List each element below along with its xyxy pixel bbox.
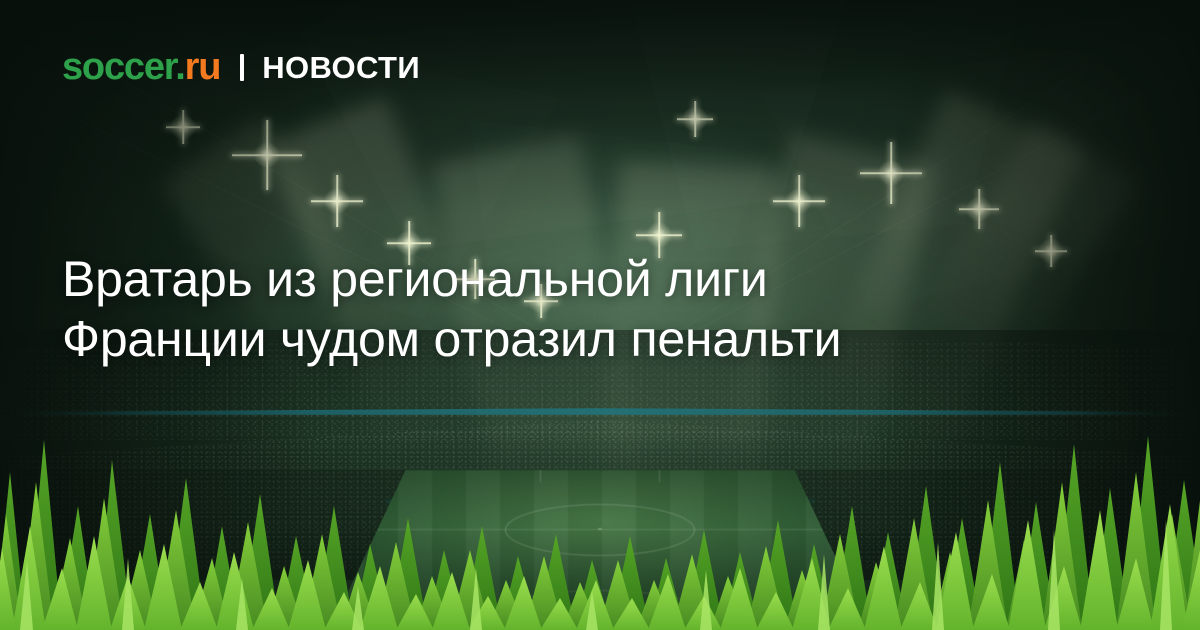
logo-text-dot: . xyxy=(175,46,184,88)
section-label-news: НОВОСТИ xyxy=(262,52,420,83)
soccer-ru-logo[interactable]: soccer.ru xyxy=(62,48,220,86)
logo-text-ru: ru xyxy=(185,46,221,88)
news-share-card: soccer.ru НОВОСТИ Вратарь из регионально… xyxy=(0,0,1200,630)
site-brand[interactable]: soccer.ru НОВОСТИ xyxy=(62,48,420,86)
logo-text-soccer: soccer xyxy=(62,46,175,88)
brand-separator-bar xyxy=(240,54,244,81)
headline-line-2: Франции чудом отразил пенальти xyxy=(62,309,1072,369)
card-content: soccer.ru НОВОСТИ Вратарь из регионально… xyxy=(0,0,1200,630)
article-headline: Вратарь из региональной лиги Франции чуд… xyxy=(62,249,1072,369)
headline-line-1: Вратарь из региональной лиги xyxy=(62,249,1072,309)
